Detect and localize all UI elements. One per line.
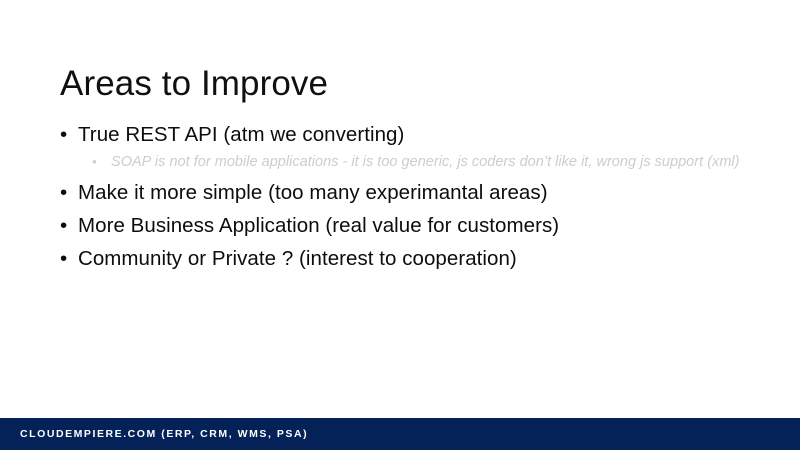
- list-item: • True REST API (atm we converting) • SO…: [58, 118, 758, 173]
- sub-list-item-label: SOAP is not for mobile applications - it…: [111, 154, 740, 170]
- sub-list-item: • SOAP is not for mobile applications - …: [78, 152, 771, 173]
- list-item-label: True REST API (atm we converting): [78, 123, 404, 146]
- list-item-label: Community or Private ? (interest to coop…: [78, 247, 517, 270]
- bullet-dot-icon: •: [60, 176, 67, 209]
- sub-bullet-dot-icon: •: [92, 152, 97, 173]
- bullet-dot-icon: •: [60, 118, 67, 151]
- footer-label: CLOUDEMPIERE.COM (ERP, CRM, WMS, PSA): [20, 428, 308, 440]
- footer-bar: CLOUDEMPIERE.COM (ERP, CRM, WMS, PSA): [0, 418, 800, 450]
- page-title: Areas to Improve: [60, 64, 328, 104]
- list-item: • Community or Private ? (interest to co…: [58, 242, 758, 275]
- list-item: • Make it more simple (too many experima…: [58, 176, 758, 209]
- bullet-dot-icon: •: [60, 209, 67, 242]
- slide: Areas to Improve • True REST API (atm we…: [0, 0, 800, 450]
- bullet-dot-icon: •: [60, 242, 67, 275]
- list-item-label: More Business Application (real value fo…: [78, 214, 559, 237]
- list-item-label: Make it more simple (too many experimant…: [78, 181, 548, 204]
- list-item: • More Business Application (real value …: [58, 209, 758, 242]
- bullet-list: • True REST API (atm we converting) • SO…: [58, 118, 758, 275]
- sub-bullet-list: • SOAP is not for mobile applications - …: [78, 152, 758, 173]
